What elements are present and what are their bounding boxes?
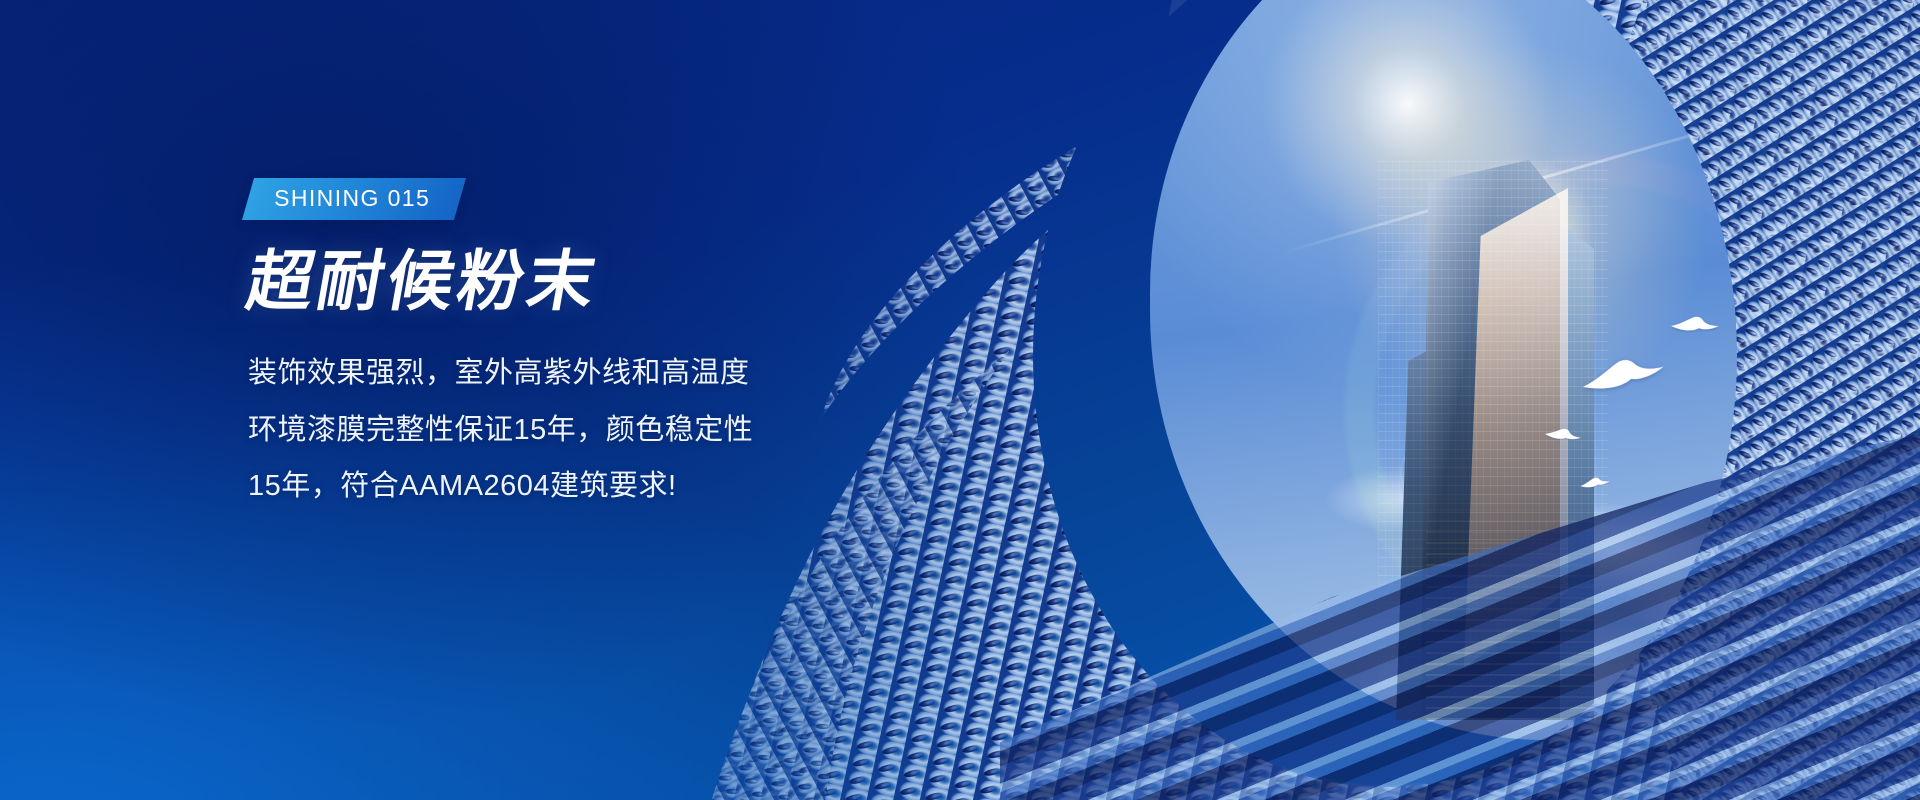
product-code-label: SHINING 015: [274, 185, 430, 212]
description-line: 15年，符合AAMA2604建筑要求!: [248, 458, 868, 515]
bird-icon: [1804, 398, 1841, 416]
product-code-badge: SHINING 015: [242, 178, 466, 220]
banner-content: SHINING 015 超耐候粉末 装饰效果强烈，室外高紫外线和高温度 环境漆膜…: [248, 178, 888, 515]
page-title: 超耐候粉末: [242, 246, 895, 317]
bird-icon: [1579, 475, 1611, 491]
description-line: 环境漆膜完整性保证15年，颜色稳定性: [248, 402, 868, 459]
hero-banner: SHINING 015 超耐候粉末 装饰效果强烈，室外高紫外线和高温度 环境漆膜…: [0, 0, 1920, 800]
description-block: 装饰效果强烈，室外高紫外线和高温度 环境漆膜完整性保证15年，颜色稳定性 15年…: [248, 345, 868, 515]
description-line: 装饰效果强烈，室外高紫外线和高温度: [248, 345, 868, 402]
